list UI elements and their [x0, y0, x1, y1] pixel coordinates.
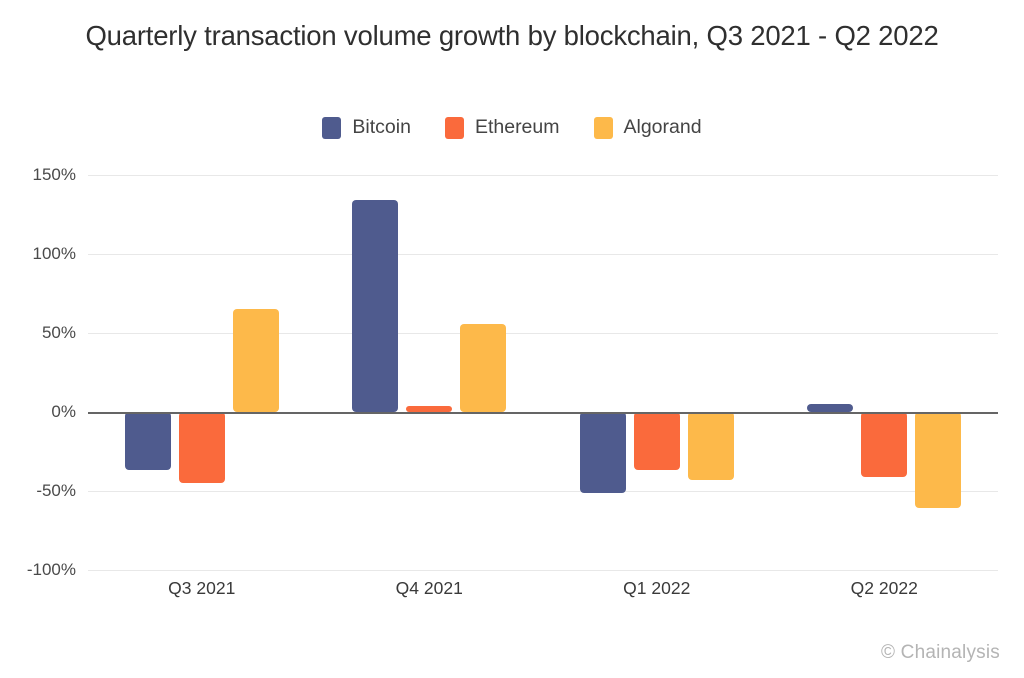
chart-title: Quarterly transaction volume growth by b…: [50, 18, 974, 53]
bar-algorand-q2-2022[interactable]: [915, 175, 961, 570]
bar-rect: [807, 404, 853, 412]
bar-ethereum-q1-2022[interactable]: [634, 175, 680, 570]
bar-ethereum-q3-2021[interactable]: [179, 175, 225, 570]
x-axis-tick-label: Q3 2021: [168, 578, 235, 599]
bar-ethereum-q4-2021[interactable]: [406, 175, 452, 570]
bar-rect: [580, 412, 626, 493]
bars-layer: [88, 175, 998, 570]
watermark: © Chainalysis: [881, 642, 1000, 664]
bar-rect: [179, 412, 225, 483]
x-axis-tick-label: Q4 2021: [396, 578, 463, 599]
bar-rect: [233, 309, 279, 412]
bar-bitcoin-q4-2021[interactable]: [352, 175, 398, 570]
y-axis-tick-label: -50%: [36, 481, 76, 501]
x-axis: Q3 2021Q4 2021Q1 2022Q2 2022: [88, 572, 998, 612]
y-axis-tick-label: 50%: [42, 323, 76, 343]
bar-bitcoin-q2-2022[interactable]: [807, 175, 853, 570]
bar-rect: [861, 412, 907, 477]
legend-item-algorand[interactable]: Algorand: [594, 116, 702, 139]
zero-axis-line: [88, 412, 998, 414]
bar-bitcoin-q3-2021[interactable]: [125, 175, 171, 570]
chart-figure: Quarterly transaction volume growth by b…: [0, 0, 1024, 678]
y-axis-tick-label: 150%: [33, 165, 76, 185]
bar-rect: [634, 412, 680, 470]
x-axis-tick-label: Q2 2022: [851, 578, 918, 599]
legend-label: Algorand: [624, 116, 702, 139]
legend-item-ethereum[interactable]: Ethereum: [445, 116, 560, 139]
y-axis-tick-label: -100%: [27, 560, 76, 580]
legend-item-bitcoin[interactable]: Bitcoin: [322, 116, 411, 139]
plot-area: 150%100%50%0%-50%-100%: [88, 175, 998, 570]
bar-rect: [688, 412, 734, 480]
bar-algorand-q4-2021[interactable]: [460, 175, 506, 570]
chart-legend: BitcoinEthereumAlgorand: [0, 116, 1024, 139]
legend-swatch-icon: [594, 117, 613, 139]
bar-group: [88, 175, 316, 570]
bar-rect: [352, 200, 398, 412]
y-axis-tick-label: 0%: [51, 402, 76, 422]
legend-swatch-icon: [445, 117, 464, 139]
bar-ethereum-q2-2022[interactable]: [861, 175, 907, 570]
bar-algorand-q3-2021[interactable]: [233, 175, 279, 570]
legend-swatch-icon: [322, 117, 341, 139]
gridline: [88, 570, 998, 571]
bar-bitcoin-q1-2022[interactable]: [580, 175, 626, 570]
bar-algorand-q1-2022[interactable]: [688, 175, 734, 570]
y-axis-tick-label: 100%: [33, 244, 76, 264]
bar-rect: [460, 324, 506, 412]
bar-rect: [125, 412, 171, 470]
bar-rect: [915, 412, 961, 508]
legend-label: Bitcoin: [352, 116, 411, 139]
legend-label: Ethereum: [475, 116, 560, 139]
bar-group: [771, 175, 999, 570]
bar-group: [316, 175, 544, 570]
x-axis-tick-label: Q1 2022: [623, 578, 690, 599]
bar-group: [543, 175, 771, 570]
